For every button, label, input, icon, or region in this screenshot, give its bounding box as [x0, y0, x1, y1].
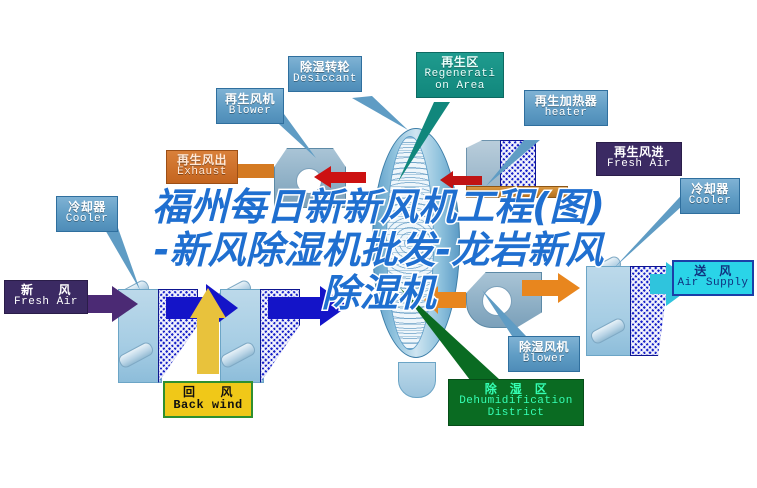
- callout-regeneration-heater-cn: 再生加热器: [529, 95, 603, 108]
- callout-dehumidification-blower-cn: 除湿风机: [513, 341, 575, 354]
- callout-regeneration-blower: 再生风机 Blower: [216, 88, 284, 124]
- callout-back-wind-cn: 回 风: [169, 386, 247, 399]
- callout-regeneration-heater-en: heater: [529, 108, 603, 120]
- callout-regeneration-fresh-air-en: Fresh Air: [601, 159, 677, 171]
- callout-desiccant-en: Desiccant: [293, 74, 357, 86]
- dehumidifier-process-diagram: 福州每日新新风机工程(图) -新风除湿机批发-龙岩新风 除湿机 除湿转轮 Des…: [0, 0, 757, 488]
- callout-exhaust-en: Exhaust: [171, 167, 233, 179]
- callout-regeneration-area-cn: 再生区: [420, 56, 500, 69]
- callout-regeneration-fresh-air: 再生风进 Fresh Air: [596, 142, 682, 176]
- callout-desiccant-cn: 除湿转轮: [293, 61, 357, 74]
- callout-regeneration-area-en2: on Area: [420, 81, 500, 93]
- watermark-title: 福州每日新新风机工程(图) -新风除湿机批发-龙岩新风 除湿机: [0, 186, 757, 315]
- watermark-line-3: 除湿机: [0, 272, 757, 315]
- callout-regeneration-heater: 再生加热器 heater: [524, 90, 608, 126]
- callout-regeneration-blower-en: Blower: [221, 106, 279, 118]
- callout-regeneration-fresh-air-cn: 再生风进: [601, 146, 677, 159]
- callout-regeneration-area: 再生区 Regenerati on Area: [416, 52, 504, 98]
- callout-dehumidification-district-en2: District: [453, 408, 579, 420]
- callout-exhaust: 再生风出 Exhaust: [166, 150, 238, 184]
- callout-back-wind: 回 风 Back wind: [163, 381, 253, 418]
- callout-dehumidification-district-cn: 除 湿 区: [453, 383, 579, 396]
- watermark-line-1: 福州每日新新风机工程(图): [0, 186, 757, 229]
- callout-exhaust-cn: 再生风出: [171, 154, 233, 167]
- callout-desiccant: 除湿转轮 Desiccant: [288, 56, 362, 92]
- callout-back-wind-en: Back wind: [169, 399, 247, 412]
- callout-dehumidification-district: 除 湿 区 Dehumidification District: [448, 379, 584, 426]
- watermark-line-2: -新风除湿机批发-龙岩新风: [0, 229, 757, 272]
- callout-dehumidification-blower: 除湿风机 Blower: [508, 336, 580, 372]
- callout-regeneration-blower-cn: 再生风机: [221, 93, 279, 106]
- callout-dehumidification-blower-en: Blower: [513, 354, 575, 366]
